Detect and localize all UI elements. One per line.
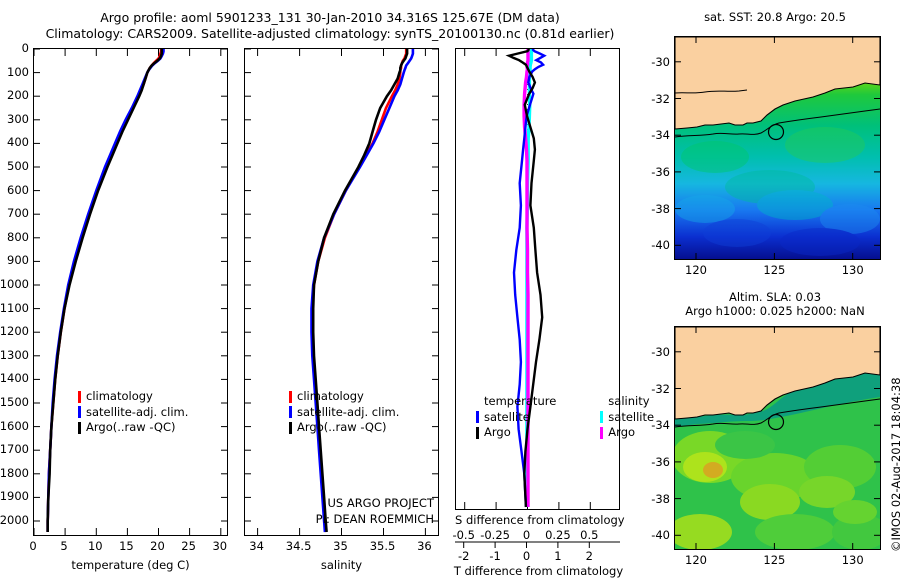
salinity-plot-area bbox=[245, 49, 438, 535]
legend-item-argo-salinity: Argo(..raw -QC) bbox=[289, 420, 399, 436]
sla-map-image bbox=[675, 327, 880, 549]
temp-xtick-20: 20 bbox=[150, 539, 165, 553]
depth-tick-700: 700 bbox=[7, 206, 29, 220]
legend-item-salinity-argo: Argo bbox=[600, 425, 654, 441]
depth-tick-900: 900 bbox=[7, 253, 29, 267]
difference-legend-column-temperature: temperature satellite Argo bbox=[476, 394, 556, 441]
depth-tick-500: 500 bbox=[7, 159, 29, 173]
project-credit: US ARGO PROJECT PI: DEAN ROEMMICH bbox=[316, 496, 434, 527]
temp-xtick-0: 0 bbox=[29, 539, 36, 553]
sla-lon-120: 120 bbox=[685, 553, 707, 567]
figure-title: Argo profile: aoml 5901233_131 30-Jan-20… bbox=[0, 10, 660, 42]
temperature-difference-axis bbox=[455, 541, 621, 551]
project-credit-line2: PI: DEAN ROEMMICH bbox=[316, 512, 434, 528]
tdiff-tick-1: 1 bbox=[554, 549, 561, 563]
temp-xtick-25: 25 bbox=[181, 539, 196, 553]
difference-legend: temperature satellite Argo salinity sate… bbox=[476, 394, 654, 441]
legend-label-temperature-argo: Argo bbox=[484, 425, 511, 441]
depth-tick-1300: 1300 bbox=[0, 348, 29, 362]
depth-tick-0: 0 bbox=[22, 41, 29, 55]
sst-lat-neg30: -30 bbox=[651, 55, 670, 69]
tdiff-tick-neg2: -2 bbox=[458, 549, 469, 563]
salinity-axis-label: salinity bbox=[244, 558, 439, 572]
project-credit-line1: US ARGO PROJECT bbox=[316, 496, 434, 512]
depth-tick-800: 800 bbox=[7, 230, 29, 244]
figure-title-line1: Argo profile: aoml 5901233_131 30-Jan-20… bbox=[0, 10, 660, 26]
legend-swatch-satellite-adj bbox=[78, 406, 81, 418]
legend-swatch-salinity-satellite bbox=[600, 411, 603, 423]
sla-lat-neg32: -32 bbox=[651, 382, 670, 396]
legend-swatch-salinity-argo bbox=[600, 427, 603, 439]
temperature-axis-label: temperature (deg C) bbox=[33, 558, 228, 572]
legend-item-satellite-adj: satellite-adj. clim. bbox=[78, 405, 188, 421]
legend-label-salinity-argo: Argo bbox=[608, 425, 635, 441]
temperature-curve-satellite-adj bbox=[48, 49, 164, 532]
legend-item-temperature-argo: Argo bbox=[476, 425, 556, 441]
temp-xtick-30: 30 bbox=[212, 539, 227, 553]
sla-lat-neg30: -30 bbox=[651, 345, 670, 359]
legend-swatch-climatology bbox=[78, 391, 81, 403]
sst-lon-125: 125 bbox=[763, 263, 785, 277]
legend-header-salinity-label: salinity bbox=[608, 394, 649, 410]
salinity-profile-panel: climatology satellite-adj. clim. Argo(..… bbox=[244, 48, 439, 536]
sst-map-image bbox=[675, 37, 880, 259]
sst-map-title: sat. SST: 20.8 Argo: 20.5 bbox=[660, 10, 890, 24]
tdiff-tick-2: 2 bbox=[586, 549, 593, 563]
sla-map-title-line1: Altim. SLA: 0.03 bbox=[655, 290, 895, 304]
sst-lon-120: 120 bbox=[685, 263, 707, 277]
legend-label-salinity-satellite: satellite bbox=[608, 410, 654, 426]
salinity-curve-satellite-adj bbox=[312, 49, 413, 532]
sla-map-title: Altim. SLA: 0.03 Argo h1000: 0.025 h2000… bbox=[655, 290, 895, 318]
depth-tick-1600: 1600 bbox=[0, 419, 29, 433]
legend-swatch-temperature-argo bbox=[476, 427, 479, 439]
temperature-plot-area bbox=[34, 49, 227, 535]
sst-lon-130: 130 bbox=[842, 263, 864, 277]
legend-label-satellite-adj: satellite-adj. clim. bbox=[86, 405, 188, 421]
depth-tick-2000: 2000 bbox=[0, 513, 29, 527]
sla-lat-neg40: -40 bbox=[651, 528, 670, 542]
sst-lat-neg32: -32 bbox=[651, 92, 670, 106]
sla-lat-neg34: -34 bbox=[651, 418, 670, 432]
sdiff-tick-0: 0 bbox=[523, 528, 530, 542]
depth-tick-600: 600 bbox=[7, 183, 29, 197]
sst-lat-neg40: -40 bbox=[651, 238, 670, 252]
legend-label-satellite-adj: satellite-adj. clim. bbox=[297, 405, 399, 421]
depth-tick-200: 200 bbox=[7, 88, 29, 102]
sla-lat-neg36: -36 bbox=[651, 455, 670, 469]
sst-lat-neg36: -36 bbox=[651, 165, 670, 179]
temperature-difference-axis-label: T difference from climatology bbox=[451, 564, 626, 578]
legend-label-temperature-satellite: satellite bbox=[484, 410, 530, 426]
sal-xtick-36: 36 bbox=[417, 539, 432, 553]
salinity-curve-argo bbox=[313, 49, 407, 532]
sal-xtick-35-5: 35.5 bbox=[370, 539, 396, 553]
depth-tick-100: 100 bbox=[7, 65, 29, 79]
legend-swatch-temperature-satellite bbox=[476, 411, 479, 423]
temp-xtick-15: 15 bbox=[119, 539, 134, 553]
legend-item-climatology-salinity: climatology bbox=[289, 389, 399, 405]
legend-header-temperature-label: temperature bbox=[484, 394, 556, 410]
legend-item-satellite-adj-salinity: satellite-adj. clim. bbox=[289, 405, 399, 421]
sal-xtick-35: 35 bbox=[333, 539, 348, 553]
depth-tick-1900: 1900 bbox=[0, 489, 29, 503]
sla-map-panel bbox=[674, 326, 881, 550]
sal-xtick-34-5: 34.5 bbox=[286, 539, 312, 553]
sla-lon-130: 130 bbox=[842, 553, 864, 567]
legend-label-climatology: climatology bbox=[86, 389, 153, 405]
legend-label-argo: Argo(..raw -QC) bbox=[86, 420, 176, 436]
sdiff-tick-neg0-25: -0.25 bbox=[480, 528, 510, 542]
depth-tick-1400: 1400 bbox=[0, 371, 29, 385]
difference-profile-panel: temperature satellite Argo salinity sate… bbox=[455, 48, 620, 510]
legend-swatch-argo bbox=[289, 422, 292, 434]
figure-title-line2: Climatology: CARS2009. Satellite-adjuste… bbox=[0, 26, 660, 42]
temp-xtick-10: 10 bbox=[88, 539, 103, 553]
legend-item-climatology: climatology bbox=[78, 389, 188, 405]
tdiff-tick-0: 0 bbox=[523, 549, 530, 563]
sla-map-title-line2: Argo h1000: 0.025 h2000: NaN bbox=[655, 304, 895, 318]
legend-item-salinity-satellite: satellite bbox=[600, 410, 654, 426]
legend-label-climatology: climatology bbox=[297, 389, 364, 405]
depth-tick-1500: 1500 bbox=[0, 395, 29, 409]
salinity-legend: climatology satellite-adj. clim. Argo(..… bbox=[289, 389, 399, 436]
salinity-difference-axis-label: S difference from climatology bbox=[455, 513, 620, 527]
difference-legend-column-salinity: salinity satellite Argo bbox=[600, 394, 654, 441]
temperature-profile-panel: climatology satellite-adj. clim. Argo(..… bbox=[33, 48, 228, 536]
temperature-curve-argo bbox=[48, 49, 162, 532]
sdiff-tick-0-25: 0.25 bbox=[545, 528, 571, 542]
depth-tick-1000: 1000 bbox=[0, 277, 29, 291]
legend-swatch-satellite-adj bbox=[289, 406, 292, 418]
legend-item-temperature-satellite: satellite bbox=[476, 410, 556, 426]
sst-map-panel bbox=[674, 36, 881, 260]
tdiff-tick-neg1: -1 bbox=[489, 549, 500, 563]
depth-tick-400: 400 bbox=[7, 135, 29, 149]
legend-header-salinity: salinity bbox=[600, 394, 654, 410]
legend-label-argo: Argo(..raw -QC) bbox=[297, 420, 387, 436]
salinity-curve-climatology bbox=[312, 49, 406, 532]
temp-xtick-5: 5 bbox=[60, 539, 67, 553]
depth-tick-1800: 1800 bbox=[0, 466, 29, 480]
legend-swatch-argo bbox=[78, 422, 81, 434]
depth-tick-300: 300 bbox=[7, 112, 29, 126]
depth-tick-1700: 1700 bbox=[0, 442, 29, 456]
sst-lat-neg34: -34 bbox=[651, 128, 670, 142]
temperature-curve-climatology bbox=[48, 49, 161, 532]
legend-item-argo: Argo(..raw -QC) bbox=[78, 420, 188, 436]
legend-swatch-climatology bbox=[289, 391, 292, 403]
sla-lat-neg38: -38 bbox=[651, 492, 670, 506]
depth-tick-1200: 1200 bbox=[0, 324, 29, 338]
sdiff-tick-0-5: 0.5 bbox=[580, 528, 598, 542]
temperature-legend: climatology satellite-adj. clim. Argo(..… bbox=[78, 389, 188, 436]
sdiff-tick-neg0-5: -0.5 bbox=[452, 528, 474, 542]
legend-header-temperature: temperature bbox=[476, 394, 556, 410]
sst-lat-neg38: -38 bbox=[651, 202, 670, 216]
sla-lon-125: 125 bbox=[763, 553, 785, 567]
sal-xtick-34: 34 bbox=[249, 539, 264, 553]
depth-tick-1100: 1100 bbox=[0, 301, 29, 315]
